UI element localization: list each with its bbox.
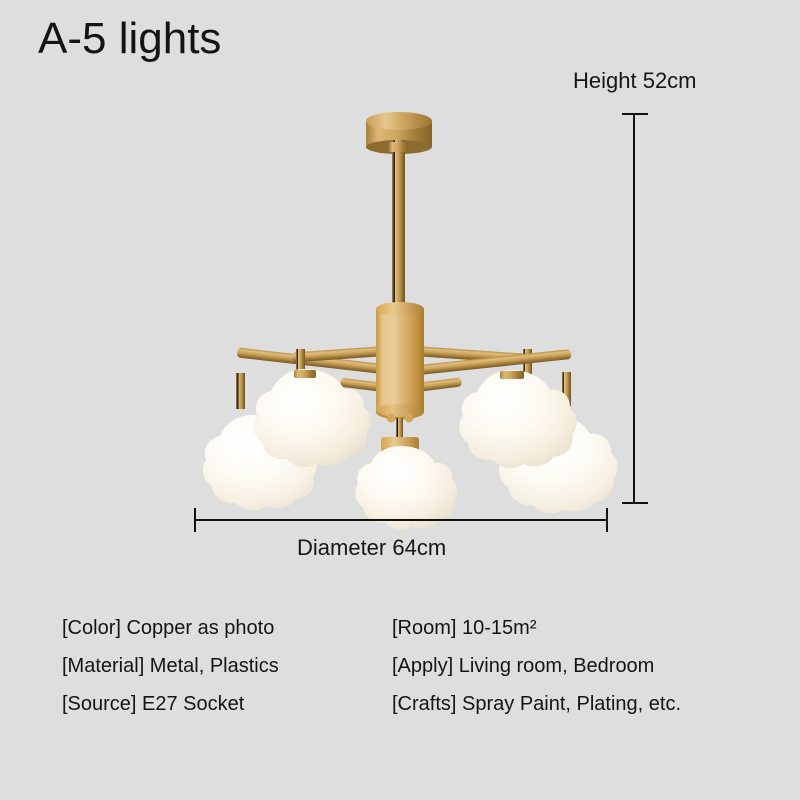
wood-body [376, 302, 424, 420]
spec-column-right: [Room] 10-15m² [Apply] Living room, Bedr… [392, 618, 762, 715]
diameter-dimension-tick-right [606, 508, 608, 532]
drop-rod [389, 140, 408, 312]
spec-item-source: [Source] E27 Socket [62, 694, 392, 715]
height-dimension-tick-top [622, 113, 648, 115]
height-dimension-line [633, 114, 635, 503]
glass-globe-center [355, 446, 457, 529]
diameter-dimension-tick-left [194, 508, 196, 532]
specification-block: [Color] Copper as photo [Material] Metal… [62, 618, 762, 715]
diameter-dimension-label: Diameter 64cm [297, 535, 446, 561]
page-title: A-5 lights [38, 14, 221, 64]
spec-item-room: [Room] 10-15m² [392, 618, 762, 639]
spec-item-color: [Color] Copper as photo [62, 618, 392, 639]
spec-item-material: [Material] Metal, Plastics [62, 656, 392, 677]
product-spec-image: A-5 lights Height 52cm Diameter 64cm [Co… [0, 0, 800, 800]
diameter-dimension-line [194, 519, 608, 521]
height-dimension-label: Height 52cm [573, 68, 697, 94]
spec-item-crafts: [Crafts] Spray Paint, Plating, etc. [392, 694, 762, 715]
spec-column-left: [Color] Copper as photo [Material] Metal… [62, 618, 392, 715]
height-dimension-tick-bottom [622, 502, 648, 504]
glass-globe-right-upper [459, 370, 577, 468]
spec-item-apply: [Apply] Living room, Bedroom [392, 656, 762, 677]
